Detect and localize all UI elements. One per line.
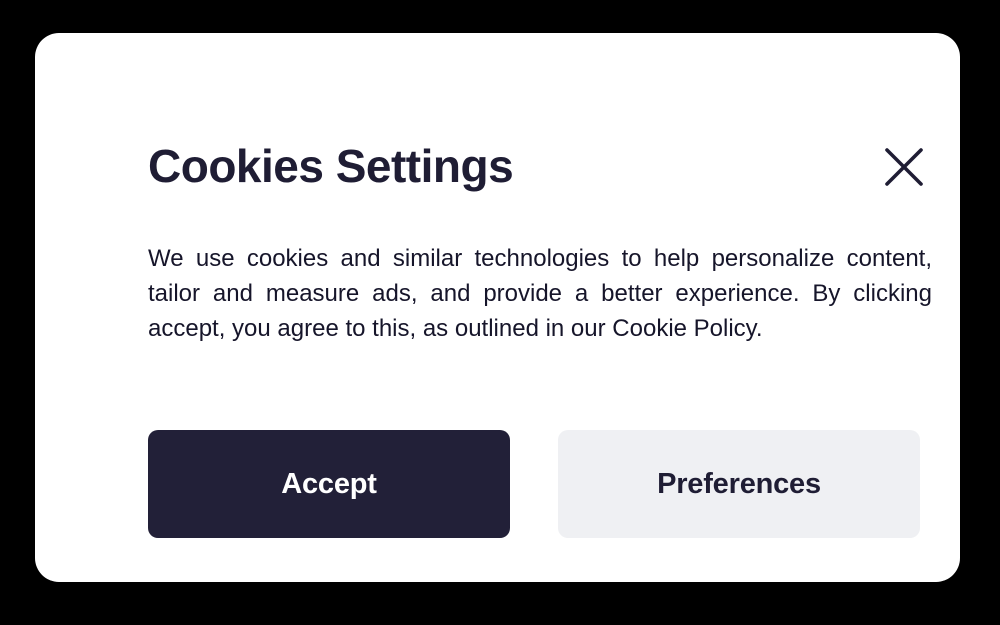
accept-button[interactable]: Accept — [148, 430, 510, 538]
page-title: Cookies Settings — [148, 137, 513, 195]
dialog-body-text: We use cookies and similar technologies … — [148, 241, 932, 346]
screen-background: Cookies Settings We use cookies and simi… — [0, 0, 1000, 625]
close-button[interactable] — [878, 141, 930, 193]
cookies-settings-dialog: Cookies Settings We use cookies and simi… — [35, 33, 960, 582]
dialog-header: Cookies Settings — [148, 137, 960, 201]
close-icon — [884, 147, 924, 187]
dialog-actions: Accept Preferences — [148, 430, 920, 538]
preferences-button[interactable]: Preferences — [558, 430, 920, 538]
